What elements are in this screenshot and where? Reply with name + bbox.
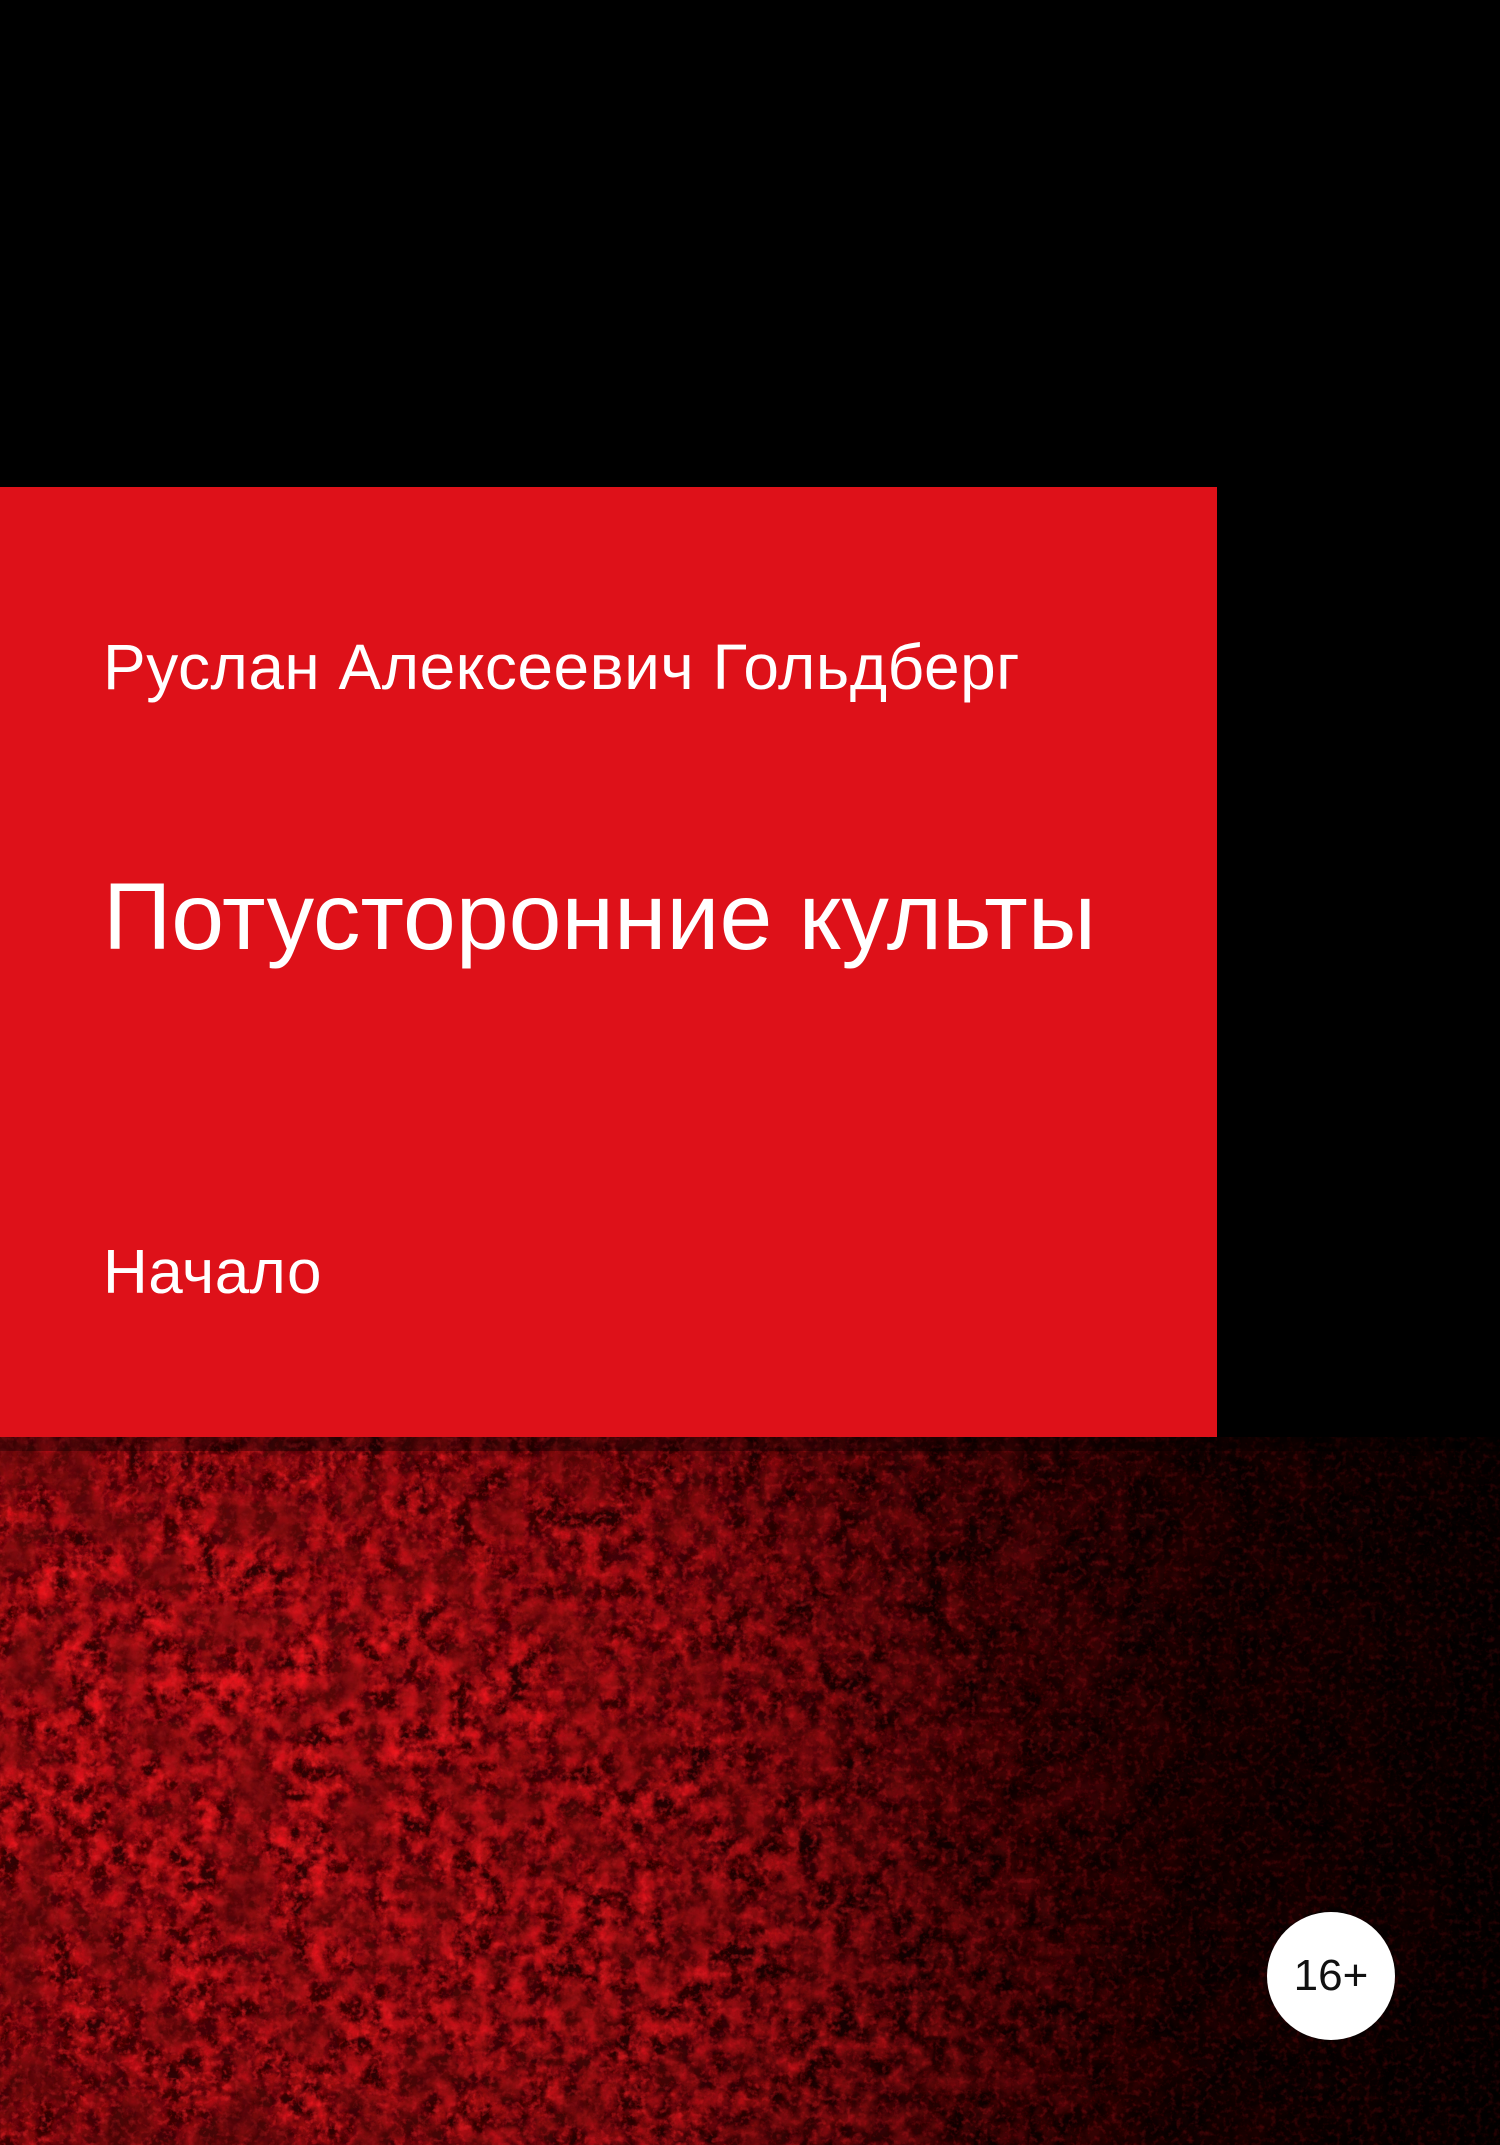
age-rating-badge: 16+ — [1267, 1912, 1395, 2040]
grunge-texture-artwork — [0, 1437, 1500, 2145]
age-rating-label: 16+ — [1294, 1954, 1369, 1998]
author-name: Руслан Алексеевич Гольдберг — [103, 630, 1020, 704]
book-cover: Руслан Алексеевич Гольдберг Потусторонни… — [0, 0, 1500, 2145]
book-title: Потусторонние культы — [103, 862, 1096, 972]
book-subtitle: Начало — [103, 1236, 322, 1310]
